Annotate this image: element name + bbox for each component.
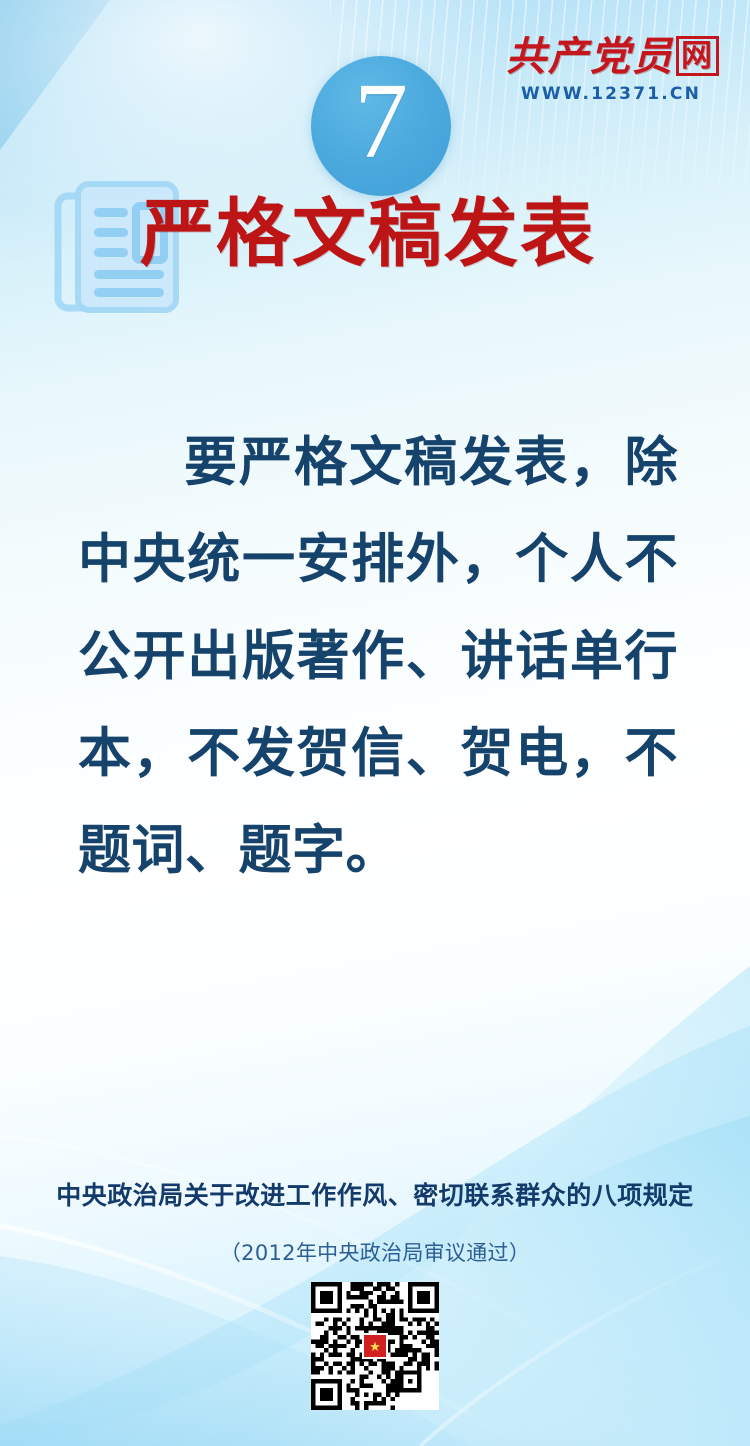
party-emblem-icon: ★	[362, 1333, 388, 1359]
brand-url: WWW.12371.CN	[506, 84, 716, 104]
brand-name-text: 共产党员	[506, 34, 674, 79]
corner-wedge-shape	[0, 0, 110, 150]
qr-code[interactable]: ★	[311, 1282, 439, 1410]
page-title: 严格文稿发表	[140, 196, 596, 274]
poster-canvas: 7 共产党员网 WWW.12371.CN 严格文稿发表 要严格文稿发表，除中央统…	[0, 0, 750, 1446]
brand-name-cn: 共产党员网	[506, 36, 716, 77]
body-text: 要严格文稿发表，除中央统一安排外，个人不公开出版著作、讲话单行本，不发贺信、贺电…	[78, 414, 678, 899]
footer-regulation-subtitle: （2012年中央政治局审议通过）	[0, 1237, 750, 1267]
number-badge: 7	[311, 56, 451, 196]
footer-regulation-title: 中央政治局关于改进工作作风、密切联系群众的八项规定	[0, 1176, 750, 1212]
brand-logo[interactable]: 共产党员网 WWW.12371.CN	[506, 36, 716, 104]
brand-name-suffix: 网	[676, 36, 719, 76]
number-badge-value: 7	[354, 68, 408, 176]
party-emblem-glyph: ★	[369, 1340, 381, 1353]
